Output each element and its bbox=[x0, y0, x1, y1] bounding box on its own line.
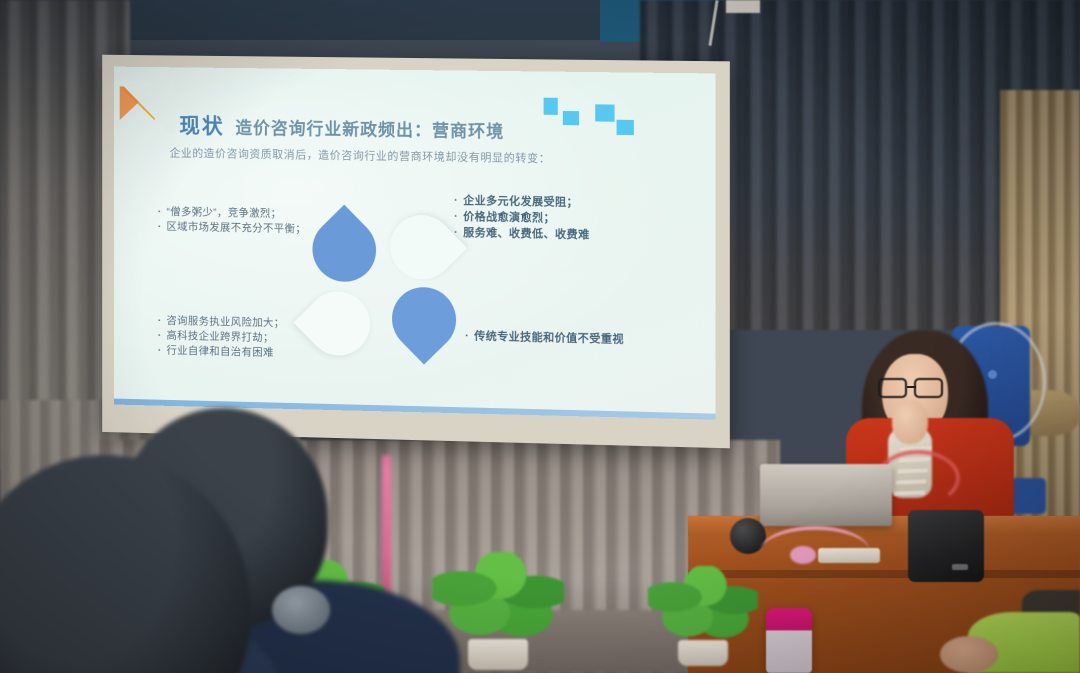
laptop bbox=[760, 464, 892, 526]
glasses-lens-right bbox=[914, 378, 943, 398]
pink-thermos-bottle bbox=[766, 608, 812, 673]
map-pin-blue-topleft-icon bbox=[299, 205, 389, 295]
plant-leaves bbox=[648, 566, 758, 640]
pink-disc-object bbox=[790, 546, 816, 564]
bullet-list-bottom-left: 咨询服务执业风险加大； 高科技企业跨界打劫； 行业自律和自治有困难 bbox=[158, 314, 285, 361]
decor-square-2-icon bbox=[563, 111, 579, 125]
slide-title-sub: 造价咨询行业新政频出：营商环境 bbox=[235, 114, 504, 143]
glasses-icon bbox=[878, 378, 952, 398]
ceiling-mount-box bbox=[726, 0, 760, 13]
plant-leaves bbox=[432, 552, 564, 639]
map-pin-blue-bottomright-icon bbox=[379, 274, 470, 365]
slide-title-main: 现状 bbox=[179, 110, 224, 140]
glasses-lens-left bbox=[878, 378, 907, 398]
speaker-logo bbox=[952, 564, 968, 570]
map-pin-white-bottomleft-icon bbox=[293, 278, 383, 368]
audience-headwear bbox=[272, 586, 330, 634]
decor-square-1-icon bbox=[544, 98, 558, 115]
presenter-hand bbox=[892, 400, 928, 444]
presentation-photo-scene: 现状 造价咨询行业新政频出：营商环境 企业的造价咨询资质取消后，造价咨询行业的营… bbox=[0, 0, 1080, 673]
list-item: 区域市场发展不充分不平衡； bbox=[158, 220, 306, 238]
map-pin-white-topright-icon bbox=[377, 202, 468, 293]
plant-pot bbox=[678, 640, 729, 666]
decor-square-4-icon bbox=[617, 120, 634, 135]
green-person-hand bbox=[940, 636, 998, 673]
decor-square-3-icon bbox=[595, 104, 614, 121]
pin-graphic-group bbox=[297, 213, 497, 397]
corner-mask bbox=[114, 80, 175, 134]
projection-screen: 现状 造价咨询行业新政频出：营商环境 企业的造价咨询资质取消后，造价咨询行业的营… bbox=[114, 67, 716, 420]
potted-plant-right bbox=[648, 566, 758, 666]
plant-pot bbox=[468, 639, 529, 670]
list-item: 行业自律和自治有困难 bbox=[158, 343, 285, 361]
bullet-list-top-left: “僧多粥少”，竞争激烈； 区域市场发展不充分不平衡； bbox=[158, 205, 306, 237]
black-speaker-box bbox=[908, 510, 984, 582]
slide-title: 现状 造价咨询行业新政频出：营商环境 bbox=[179, 110, 504, 144]
slide-lead-text: 企业的造价咨询资质取消后，造价咨询行业的营商环境却没有明显的转变： bbox=[170, 144, 551, 166]
power-strip bbox=[818, 548, 880, 563]
